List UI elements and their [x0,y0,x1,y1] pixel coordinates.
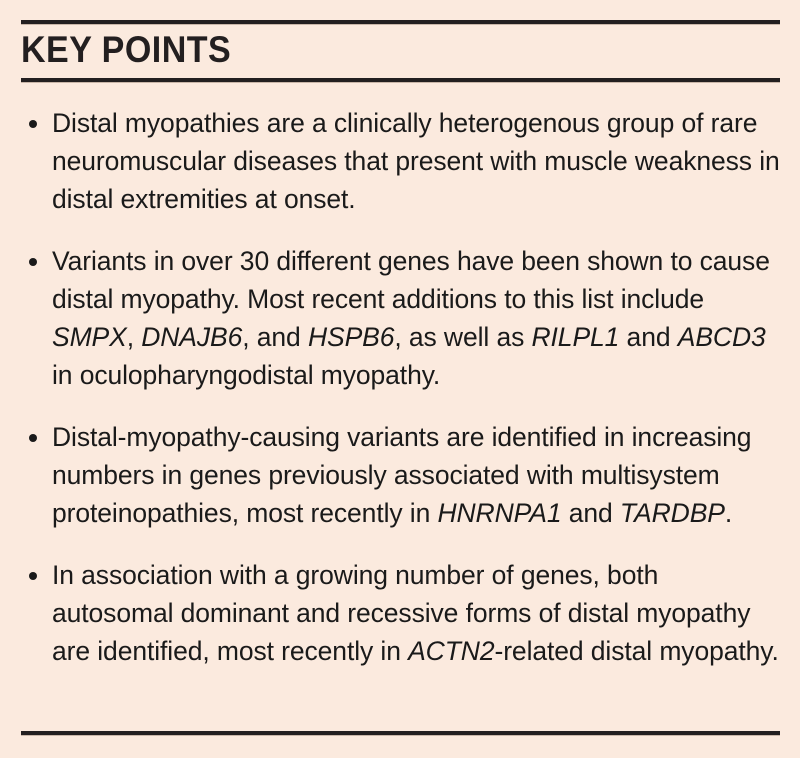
list-item-text: Distal-myopathy-causing variants are ide… [52,418,782,532]
list-item: Variants in over 30 different genes have… [0,242,800,394]
key-points-list: Distal myopathies are a clinically heter… [0,104,800,670]
gene-name: ABCD3 [678,322,766,352]
gene-name: RILPL1 [532,322,620,352]
bullet-dot-icon [29,120,37,128]
gene-name: TARDBP [620,498,725,528]
gene-name: HNRNPA1 [437,498,561,528]
bullet-dot-icon [29,258,37,266]
list-item-text: In association with a growing number of … [52,556,782,670]
top-divider-rule [21,20,780,25]
bullet-dot-icon [29,572,37,580]
page-title: KEY POINTS [21,28,231,72]
gene-name: SMPX [52,322,127,352]
gene-name: ACTN2 [408,636,494,666]
list-item: In association with a growing number of … [0,556,800,670]
title-underline-rule [21,78,780,83]
list-item: Distal-myopathy-causing variants are ide… [0,418,800,532]
gene-name: DNAJB6 [141,322,242,352]
gene-name: HSPB6 [308,322,394,352]
key-points-panel: KEY POINTS Distal myopathies are a clini… [0,0,800,758]
list-item: Distal myopathies are a clinically heter… [0,104,800,218]
bottom-divider-rule [21,731,780,736]
list-item-text: Distal myopathies are a clinically heter… [52,104,782,218]
bullet-dot-icon [29,434,37,442]
list-item-text: Variants in over 30 different genes have… [52,242,782,394]
